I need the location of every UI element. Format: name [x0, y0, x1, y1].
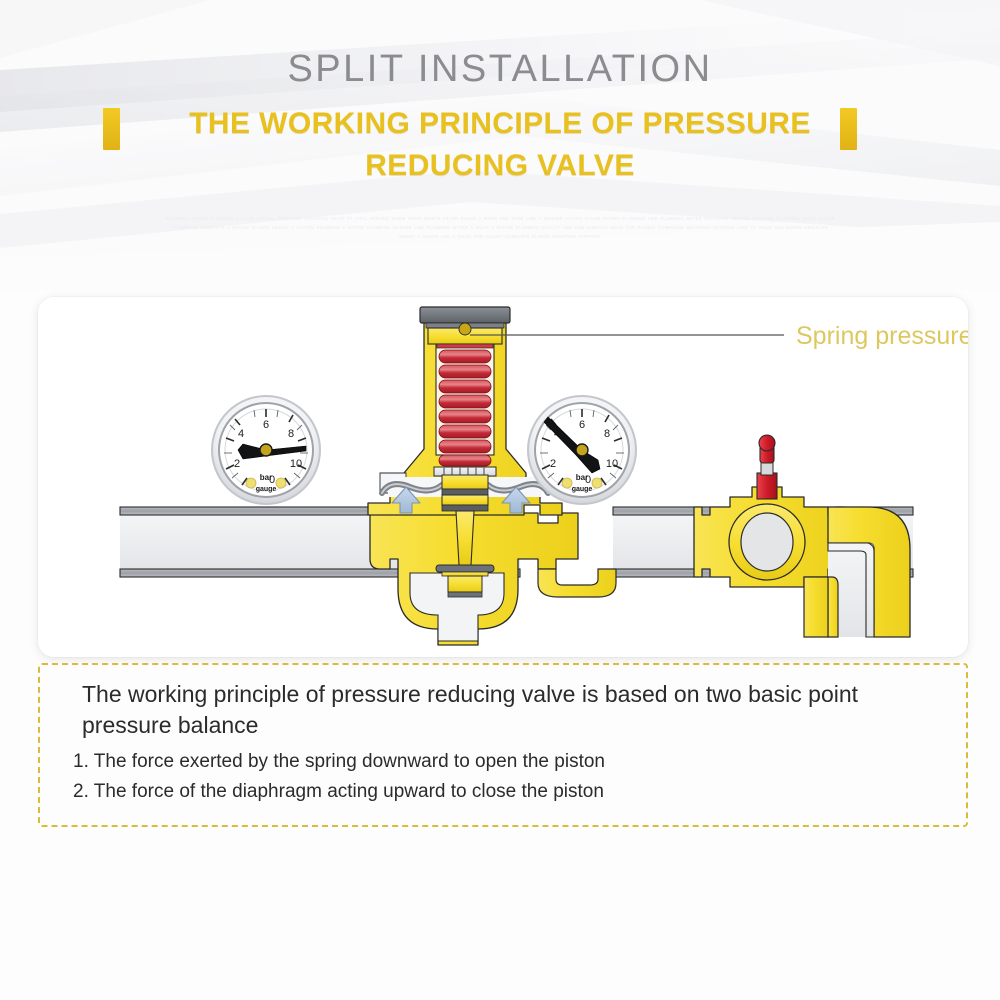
- caption-item-2: 2. The force of the diaphragm acting upw…: [73, 779, 933, 805]
- valve-cross-section-diagram: 6 8 4 10 2 0 bar gauge: [38, 297, 968, 657]
- gauge-unit-label: bar: [576, 473, 588, 482]
- watermark-text: PLUMBING RATING PLUMBING A VALVE INSTALL…: [165, 214, 835, 241]
- compression-spring: [439, 350, 491, 466]
- accent-bar-left: [103, 108, 120, 150]
- svg-text:2: 2: [550, 458, 556, 470]
- inlet-pressure-gauge[interactable]: 6 8 4 10 2 0 bar gauge: [212, 396, 320, 504]
- svg-text:10: 10: [606, 458, 618, 470]
- diagram-card: 6 8 4 10 2 0 bar gauge: [38, 297, 968, 657]
- annotation-label: Spring pressure adjusting knob: [796, 322, 968, 350]
- caption-item-1: 1. The force exerted by the spring downw…: [73, 749, 933, 775]
- svg-text:2: 2: [234, 458, 240, 470]
- gauge-subunit-label: gauge: [572, 486, 593, 493]
- gauge-unit-label: bar: [260, 473, 272, 482]
- page-title: SPLIT INSTALLATION: [0, 48, 1000, 91]
- spring-pressure-adjusting-knob[interactable]: [420, 307, 510, 344]
- svg-text:8: 8: [288, 428, 294, 440]
- gauge-subunit-label: gauge: [256, 486, 277, 493]
- page-root: SPLIT INSTALLATION THE WORKING PRINCIPLE…: [0, 0, 1000, 1000]
- page-subtitle: THE WORKING PRINCIPLE OF PRESSURE REDUCI…: [130, 103, 870, 187]
- outlet-pressure-gauge[interactable]: 6 8 4 10 2 0 bar gauge: [528, 396, 636, 504]
- svg-text:8: 8: [604, 428, 610, 440]
- caption-box: The working principle of pressure reduci…: [38, 663, 968, 827]
- svg-text:4: 4: [238, 428, 244, 440]
- caption-lead-text: The working principle of pressure reduci…: [82, 679, 922, 741]
- svg-text:6: 6: [263, 419, 269, 431]
- svg-text:6: 6: [579, 419, 585, 431]
- svg-text:10: 10: [290, 458, 302, 470]
